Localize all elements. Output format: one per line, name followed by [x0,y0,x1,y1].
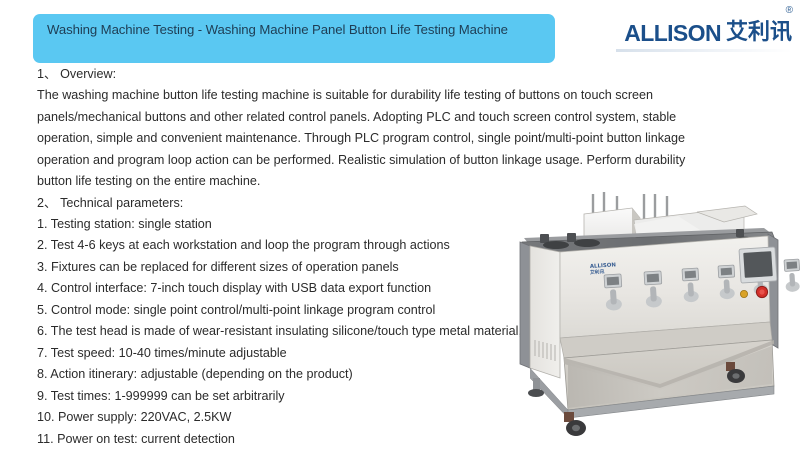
registered-trademark-icon: ® [786,6,793,16]
control-panel-face [560,236,770,338]
logo-wordmark: ALLISON 艾利讯 ® [592,16,792,46]
title-banner: Washing Machine Testing - Washing Machin… [33,14,555,63]
page-title: Washing Machine Testing - Washing Machin… [47,20,541,40]
machine-cabinet: ALLISON 艾利讯 [520,234,800,418]
logo-underline-divider [616,49,792,52]
hmi-display[interactable] [743,251,773,278]
page-header: Washing Machine Testing - Washing Machin… [0,0,800,64]
estop-cap-highlight [759,289,764,294]
machine-illustration: ALLISON 艾利讯 [492,172,800,450]
machine-product-photo: ALLISON 艾利讯 [492,172,800,450]
amber-indicator-light [740,290,747,297]
company-logo: ALLISON 艾利讯 ® [592,16,792,60]
overview-heading: 1、 Overview: [37,64,737,85]
logo-chinese-text: 艾利讯 [726,20,792,46]
logo-latin-text: ALLISON [624,20,721,46]
hmi-touch-screen[interactable] [739,247,777,283]
frame-left-post [520,242,530,368]
station-control-6[interactable] [784,259,800,292]
